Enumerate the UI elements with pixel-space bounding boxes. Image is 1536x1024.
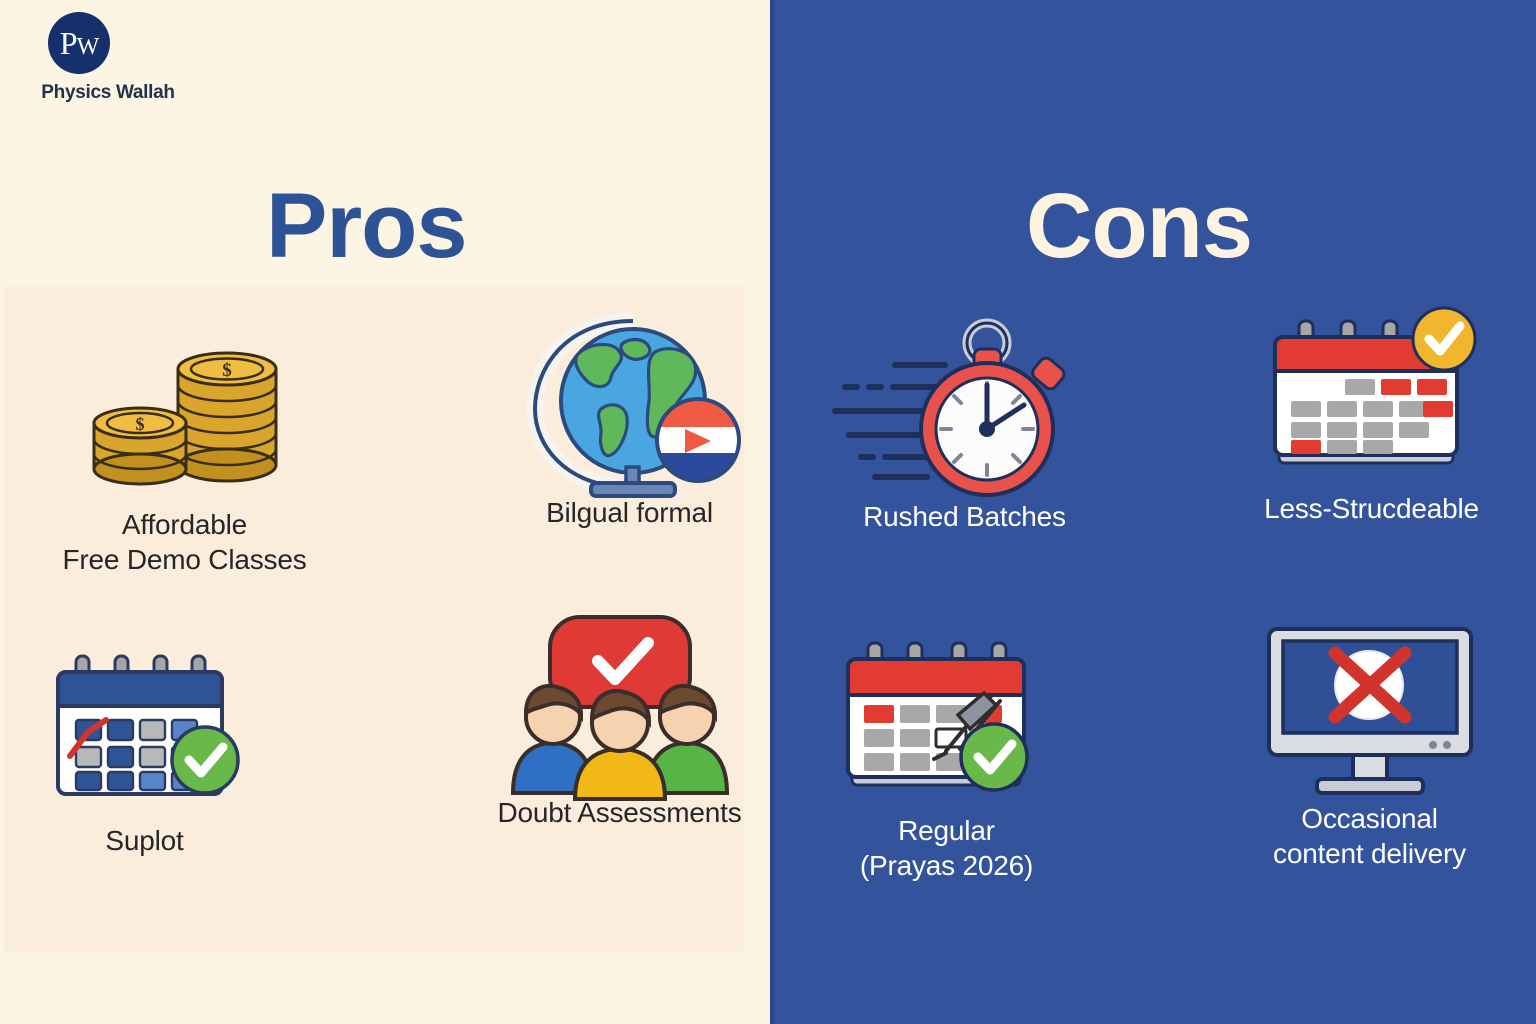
- caption-line-2: content delivery: [1273, 836, 1466, 871]
- calendar-check-yellow-icon: [1201, 306, 1536, 491]
- cons-item-caption: Occasional content delivery: [1273, 801, 1466, 872]
- cons-item-occasional-content: Occasional content delivery: [1199, 616, 1536, 906]
- caption-line-1: Rushed Batches: [863, 499, 1066, 534]
- svg-text:$: $: [222, 360, 232, 381]
- coin-stack-icon: $: [2, 322, 367, 507]
- pros-panel: PW Physics Wallah Pros: [0, 0, 770, 1024]
- logo-initial-w: W: [77, 34, 99, 61]
- physics-wallah-logo: PW Physics Wallah: [18, 12, 198, 104]
- cons-item-rushed-batches: Rushed Batches: [794, 314, 1135, 604]
- pros-item-grid: $: [0, 300, 770, 880]
- svg-text:$: $: [135, 414, 144, 434]
- pros-item-suplot: Suplot: [0, 638, 327, 928]
- pros-item-caption: Bilgual formal: [546, 495, 713, 530]
- pros-item-caption: Suplot: [105, 823, 183, 858]
- cons-item-grid: Rushed Batches: [774, 300, 1536, 880]
- caption-line-1: Regular: [860, 813, 1033, 848]
- pros-heading: Pros: [266, 180, 467, 272]
- brand-name: Physics Wallah: [18, 82, 198, 104]
- pw-monogram-icon: PW: [48, 12, 110, 74]
- caption-line-1: Suplot: [105, 823, 183, 858]
- globe-flag-icon: [447, 310, 812, 495]
- pros-item-affordable: $: [2, 322, 367, 612]
- pros-item-caption: Affordable Free Demo Classes: [62, 507, 306, 578]
- logo-initial-p: P: [60, 25, 77, 62]
- cons-panel: Cons: [770, 0, 1536, 1024]
- pros-item-doubt-assessments: Doubt Assessments: [437, 610, 802, 900]
- group-check-bubble-icon: [437, 610, 802, 795]
- caption-line-1: Bilgual formal: [546, 495, 713, 530]
- cons-item-caption: Regular (Prayas 2026): [860, 813, 1033, 884]
- caption-line-1: Affordable: [62, 507, 306, 542]
- caption-line-1: Occasional: [1273, 801, 1466, 836]
- cons-item-less-structureable: Less-Strucdeable: [1201, 306, 1536, 596]
- caption-line-2: Free Demo Classes: [62, 542, 306, 577]
- cons-item-caption: Less-Strucdeable: [1264, 491, 1479, 526]
- cons-item-regular-prayas: Regular (Prayas 2026): [776, 628, 1117, 918]
- calendar-check-blue-icon: [0, 638, 327, 823]
- caption-line-2: (Prayas 2026): [860, 848, 1033, 883]
- pros-item-bilingual: Bilgual formal: [447, 310, 812, 600]
- cons-item-caption: Rushed Batches: [863, 499, 1066, 534]
- cons-heading: Cons: [1026, 180, 1252, 272]
- stopwatch-speed-icon: [794, 314, 1135, 499]
- calendar-pen-check-icon: [776, 628, 1117, 813]
- monitor-blocked-icon: [1199, 616, 1536, 801]
- caption-line-1: Less-Strucdeable: [1264, 491, 1479, 526]
- comparison-infographic: PW Physics Wallah Pros: [0, 0, 1536, 1024]
